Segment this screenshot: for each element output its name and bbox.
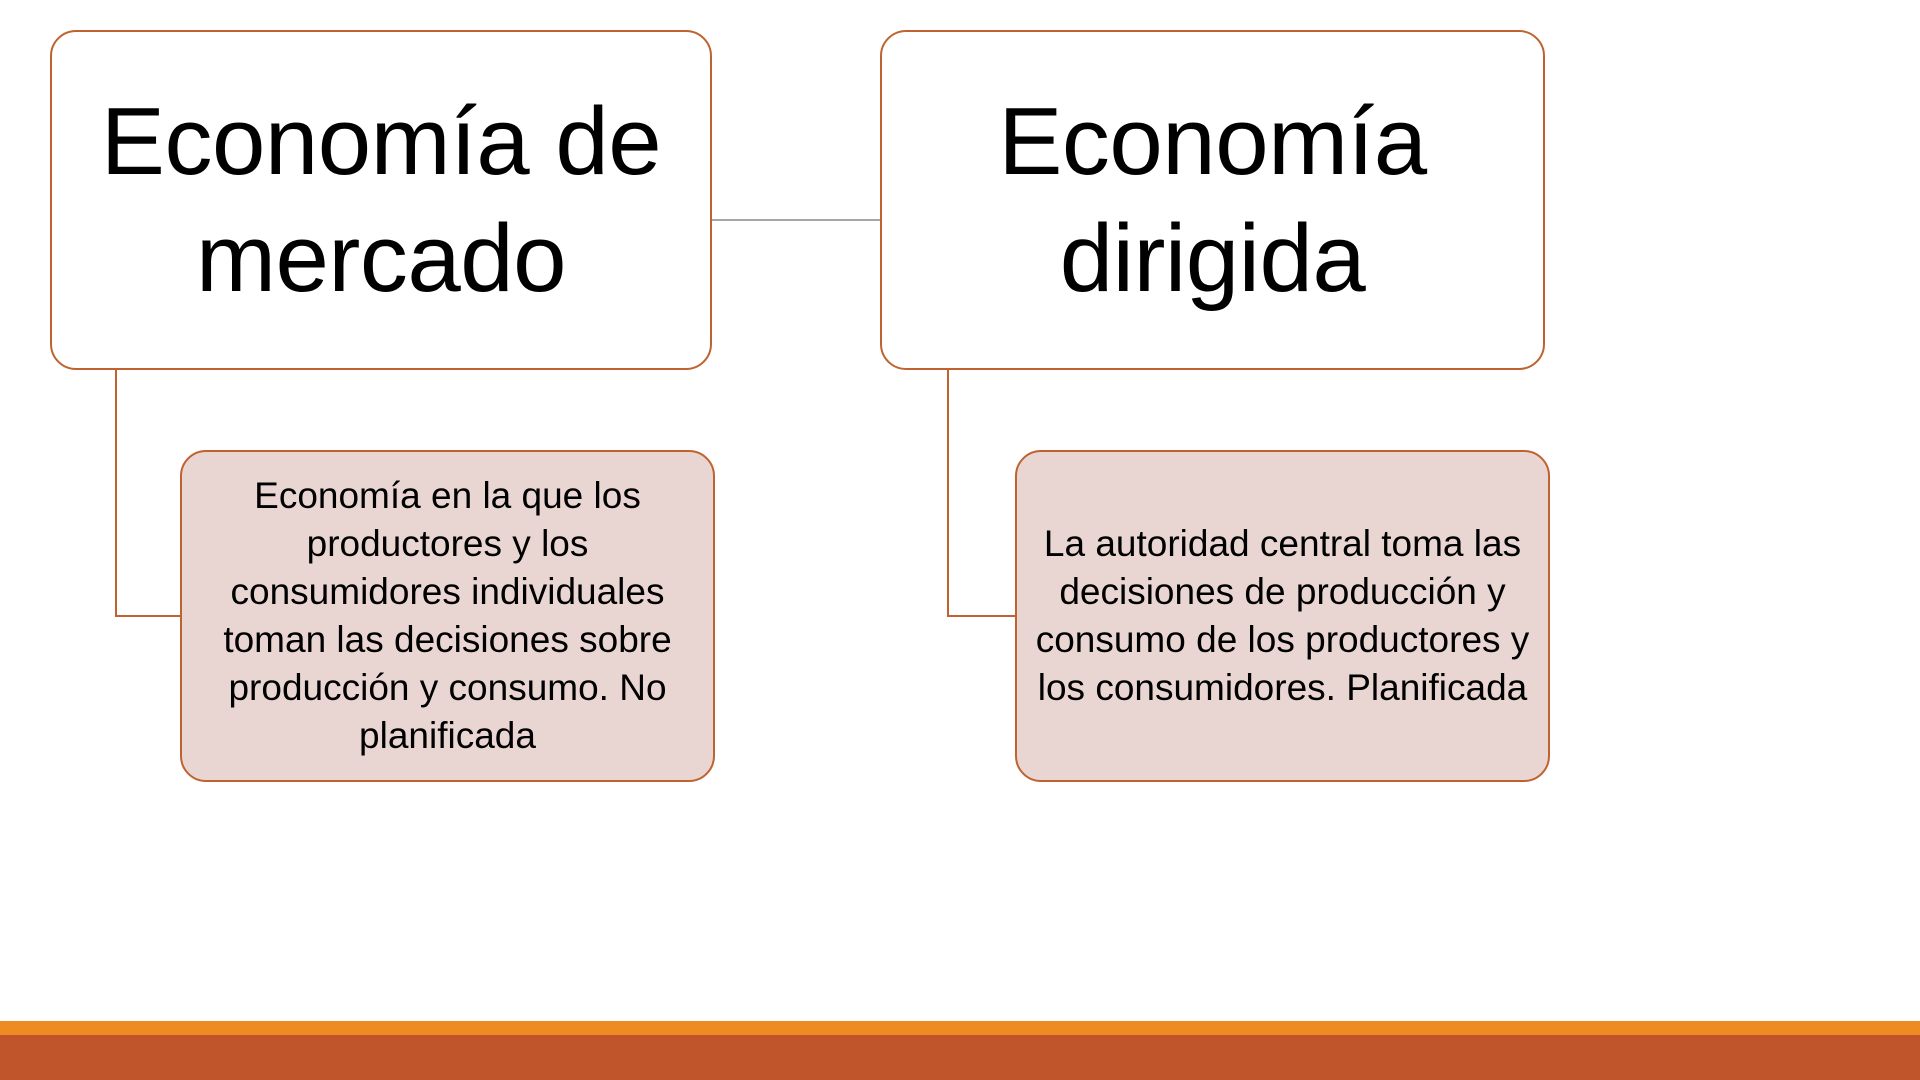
slide-canvas: Economía de mercado Economía dirigida Ec… xyxy=(0,0,1920,1080)
node-economia-de-mercado[interactable]: Economía de mercado xyxy=(50,30,712,370)
orange-accent-stripe xyxy=(0,1021,1920,1035)
connector-command-to-command-desc xyxy=(948,370,1016,616)
node-economia-dirigida[interactable]: Economía dirigida xyxy=(880,30,1545,370)
node-economia-dirigida-descripcion-label: La autoridad central toma las decisiones… xyxy=(1017,520,1548,712)
node-economia-de-mercado-descripcion[interactable]: Economía en la que los productores y los… xyxy=(180,450,715,782)
node-economia-dirigida-descripcion[interactable]: La autoridad central toma las decisiones… xyxy=(1015,450,1550,782)
connector-market-to-market-desc xyxy=(116,370,181,616)
node-economia-de-mercado-label: Economía de mercado xyxy=(52,83,710,317)
node-economia-dirigida-label: Economía dirigida xyxy=(882,83,1543,317)
rust-accent-band xyxy=(0,1035,1920,1080)
node-economia-de-mercado-descripcion-label: Economía en la que los productores y los… xyxy=(182,472,713,761)
